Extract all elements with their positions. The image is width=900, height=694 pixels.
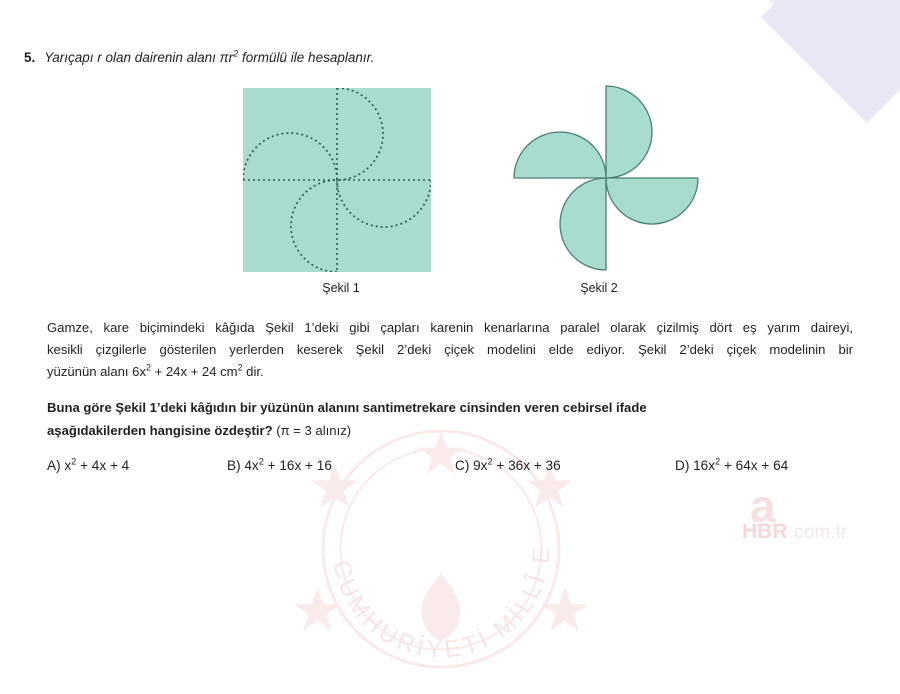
statement-after: formülü ile hesaplanır. — [238, 50, 374, 65]
petal-bottom — [560, 178, 606, 270]
svg-text:HBR: HBR — [742, 520, 788, 543]
sekil-2-caption: Şekil 2 — [504, 281, 694, 295]
option-b[interactable]: B) 4x2 + 16x + 16 — [227, 458, 332, 473]
petal-left — [514, 132, 606, 178]
pi-symbol: π — [220, 50, 229, 65]
body-line-1: Gamze, kare biçimindeki kâğıda Şekil 1’d… — [47, 317, 853, 339]
question-header: 5. Yarıçapı r olan dairenin alanı πr2 fo… — [24, 50, 870, 65]
prompt-line-1: Buna göre Şekil 1’deki kâğıdın bir yüzün… — [47, 396, 857, 419]
petal-top — [606, 86, 652, 178]
options-row: A) x2 + 4x + 4 B) 4x2 + 16x + 16 C) 9x2 … — [47, 458, 867, 482]
figures-area: Şekil 1 Şekil 2 — [0, 84, 900, 299]
sekil-1-caption: Şekil 1 — [246, 281, 436, 295]
figure-sekil-1 — [243, 88, 431, 277]
question-number: 5. — [24, 50, 35, 65]
petal-right — [606, 178, 698, 224]
option-c-rest: + 36x + 36 — [493, 458, 561, 473]
option-b-rest: + 16x + 16 — [264, 458, 332, 473]
option-c-label: C) 9x — [455, 458, 487, 473]
option-a-label: A) x — [47, 458, 71, 473]
body-line-3: yüzünün alanı 6x2 + 24x + 24 cm2 dir. — [47, 361, 853, 383]
channel-logo-watermark: a HBR .com.tr — [734, 482, 886, 544]
svg-text:.com.tr: .com.tr — [789, 522, 848, 543]
option-d-label: D) 16x — [675, 458, 715, 473]
option-c[interactable]: C) 9x2 + 36x + 36 — [455, 458, 561, 473]
prompt-line-2-bold: aşağıdakilerden hangisine özdeştir? — [47, 423, 273, 438]
prompt-line-2: aşağıdakilerden hangisine özdeştir? (π =… — [47, 419, 857, 442]
option-d-rest: + 64x + 64 — [720, 458, 788, 473]
body-line-2: kesikli çizgilerle gösterilen yerlerden … — [47, 339, 853, 361]
body-paragraph: Gamze, kare biçimindeki kâğıda Şekil 1’d… — [47, 317, 853, 383]
body-line-3-after: dir. — [243, 364, 264, 379]
statement-before: Yarıçapı r olan dairenin alanı — [44, 50, 219, 65]
sekil-2-drawing — [512, 84, 700, 274]
option-b-label: B) 4x — [227, 458, 259, 473]
body-line-3-mid: + 24x + 24 cm — [151, 364, 238, 379]
question-prompt: Buna göre Şekil 1’deki kâğıdın bir yüzün… — [47, 396, 857, 442]
option-d[interactable]: D) 16x2 + 64x + 64 — [675, 458, 788, 473]
option-a-rest: + 4x + 4 — [76, 458, 129, 473]
option-a[interactable]: A) x2 + 4x + 4 — [47, 458, 129, 473]
figure-sekil-2 — [512, 84, 700, 279]
prompt-pi-note: (π = 3 alınız) — [273, 423, 352, 438]
body-line-3-before: yüzünün alanı 6x — [47, 364, 146, 379]
ministry-seal-watermark: CUMHURİYETİ MİLLÎ EĞİTİM — [296, 404, 586, 694]
question-statement: Yarıçapı r olan dairenin alanı πr2 formü… — [44, 50, 374, 65]
sekil-1-drawing — [243, 88, 431, 272]
